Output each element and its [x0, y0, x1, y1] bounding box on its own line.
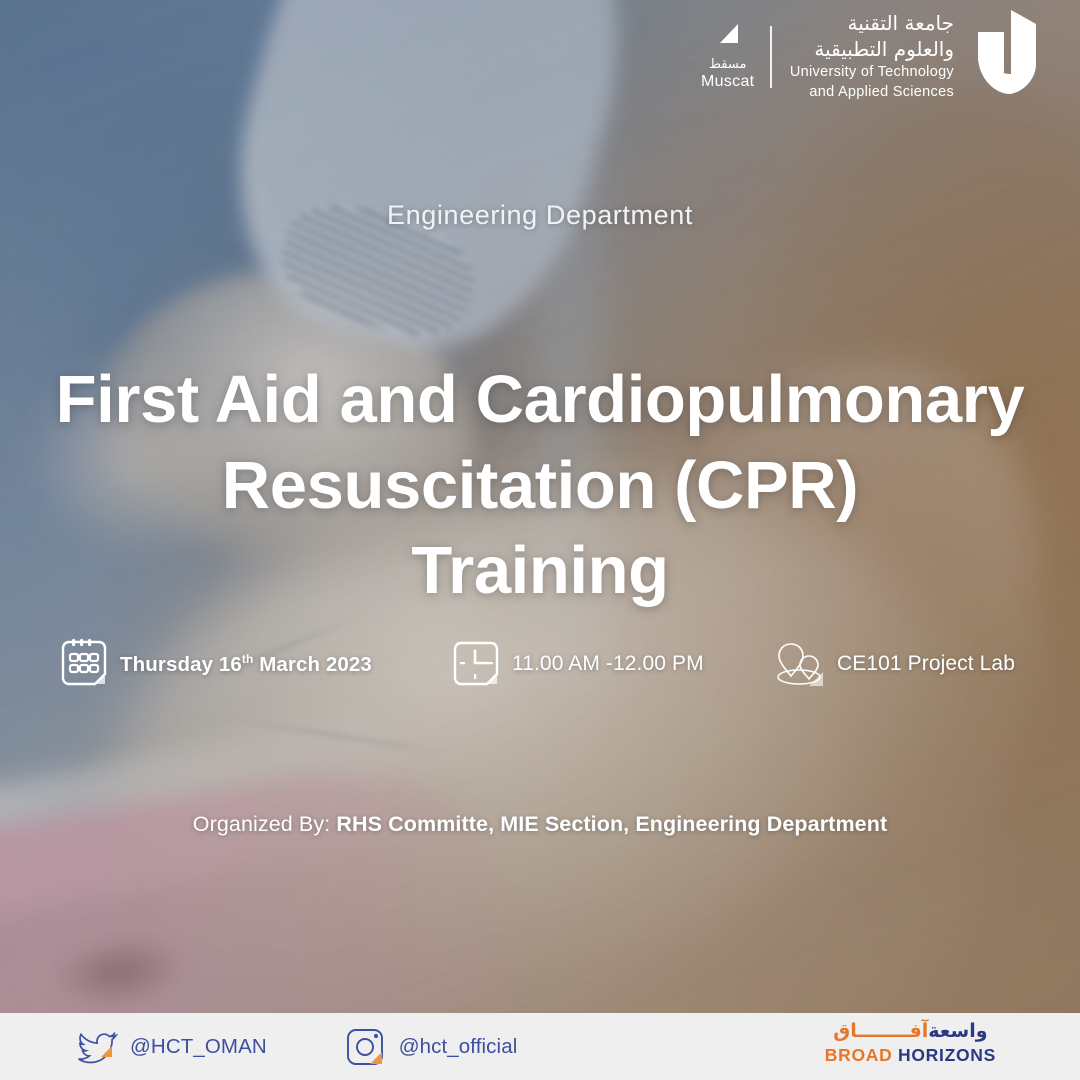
- event-location: CE101 Project Lab: [773, 636, 1034, 692]
- event-date: Thursday 16th March 2023: [56, 636, 448, 692]
- event-time-text: 11.00 AM -12.00 PM: [512, 652, 704, 676]
- instagram-handle[interactable]: @hct_official: [399, 1035, 518, 1059]
- university-logo: مسقط Muscat جامعة التقنية والعلوم التطبي…: [701, 8, 1042, 105]
- instagram-icon[interactable]: [343, 1025, 387, 1069]
- event-date-text: Thursday 16th March 2023: [120, 652, 372, 677]
- organizer-label: Organized By:: [193, 812, 337, 836]
- calendar-icon: [56, 636, 112, 692]
- clock-icon: [448, 636, 504, 692]
- broad-horizons-arabic-orange: آفــــــــاق: [833, 1020, 928, 1042]
- event-date-ordinal: th: [242, 652, 254, 666]
- event-meta-row: Thursday 16th March 2023 11.00 AM -12.00…: [56, 636, 1034, 692]
- broad-horizons-english: BROAD HORIZONS: [825, 1046, 996, 1065]
- organizer-line: Organized By: RHS Committe, MIE Section,…: [0, 812, 1080, 837]
- page-title: First Aid and Cardiopulmonary Resuscitat…: [40, 357, 1040, 614]
- event-date-suffix: March 2023: [253, 652, 371, 675]
- campus-block: مسقط Muscat: [701, 22, 770, 90]
- broad-horizons-en-second: HORIZONS: [892, 1045, 996, 1065]
- twitter-icon[interactable]: [74, 1025, 118, 1069]
- muscat-triangle-icon: [717, 22, 739, 49]
- broad-horizons-en-first: BROAD: [825, 1045, 893, 1065]
- university-name-english-line1: University of Technology: [790, 64, 954, 82]
- event-time: 11.00 AM -12.00 PM: [448, 636, 773, 692]
- social-twitter[interactable]: @HCT_OMAN: [74, 1025, 267, 1069]
- map-pin-icon: [773, 636, 829, 692]
- footer-bar: @HCT_OMAN @hct_official واسعةآفــــــــا…: [0, 1013, 1080, 1080]
- department-label: Engineering Department: [0, 200, 1080, 231]
- broad-horizons-arabic-blue: واسعة: [928, 1020, 987, 1042]
- social-instagram[interactable]: @hct_official: [343, 1025, 518, 1069]
- broad-horizons-arabic: واسعةآفــــــــاق: [825, 1021, 996, 1042]
- campus-name-english: Muscat: [701, 73, 754, 91]
- campus-name-arabic: مسقط: [709, 58, 746, 73]
- university-name-arabic-line2: والعلوم التطبيقية: [814, 37, 954, 63]
- utas-u-mark-icon: [970, 8, 1042, 105]
- university-name-arabic-line1: جامعة التقنية: [848, 11, 955, 37]
- twitter-handle[interactable]: @HCT_OMAN: [130, 1035, 267, 1059]
- event-location-text: CE101 Project Lab: [837, 652, 1015, 676]
- broad-horizons-logo: واسعةآفــــــــاق BROAD HORIZONS: [825, 1021, 996, 1064]
- university-name-block: جامعة التقنية والعلوم التطبيقية Universi…: [790, 11, 968, 102]
- event-date-prefix: Thursday 16: [120, 652, 242, 675]
- university-name-english-line2: and Applied Sciences: [809, 84, 954, 102]
- event-poster: مسقط Muscat جامعة التقنية والعلوم التطبي…: [0, 0, 1080, 1080]
- organizer-value: RHS Committe, MIE Section, Engineering D…: [336, 812, 887, 836]
- logo-divider: [770, 26, 772, 88]
